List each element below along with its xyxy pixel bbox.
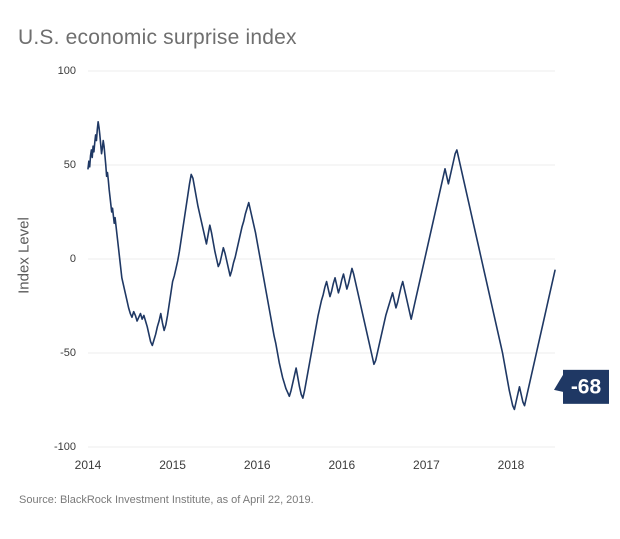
y-axis-tick-labels: 100500-50-100 <box>54 65 76 453</box>
y-axis-tick-label: 50 <box>64 159 76 171</box>
callout-value-label: -68 <box>571 375 602 398</box>
chart-plot-area: Index Level 100500-50-100 20142015201620… <box>0 55 620 480</box>
y-axis-title: Index Level <box>16 196 33 316</box>
x-axis-tick-labels: 201420152016201620172018 <box>75 458 525 472</box>
x-axis-tick-label: 2017 <box>413 458 440 472</box>
y-axis-tick-label: 100 <box>58 65 76 77</box>
callout-pointer <box>554 375 563 392</box>
gridlines-group <box>88 71 555 447</box>
y-axis-tick-label: 0 <box>70 253 76 265</box>
x-axis-tick-label: 2014 <box>75 458 102 472</box>
page-title: U.S. economic surprise index <box>18 26 297 50</box>
source-note: Source: BlackRock Investment Institute, … <box>19 494 314 506</box>
y-axis-tick-label: -100 <box>54 441 76 453</box>
value-callout-badge: -68 <box>554 370 609 404</box>
y-axis-tick-label: -50 <box>60 347 76 359</box>
x-axis-tick-label: 2016 <box>244 458 271 472</box>
line-chart-svg: 100500-50-100 201420152016201620172018 -… <box>0 55 620 480</box>
x-axis-tick-label: 2015 <box>159 458 186 472</box>
chart-card: U.S. economic surprise index Index Level… <box>0 0 620 539</box>
x-axis-tick-label: 2016 <box>328 458 355 472</box>
x-axis-tick-label: 2018 <box>498 458 525 472</box>
